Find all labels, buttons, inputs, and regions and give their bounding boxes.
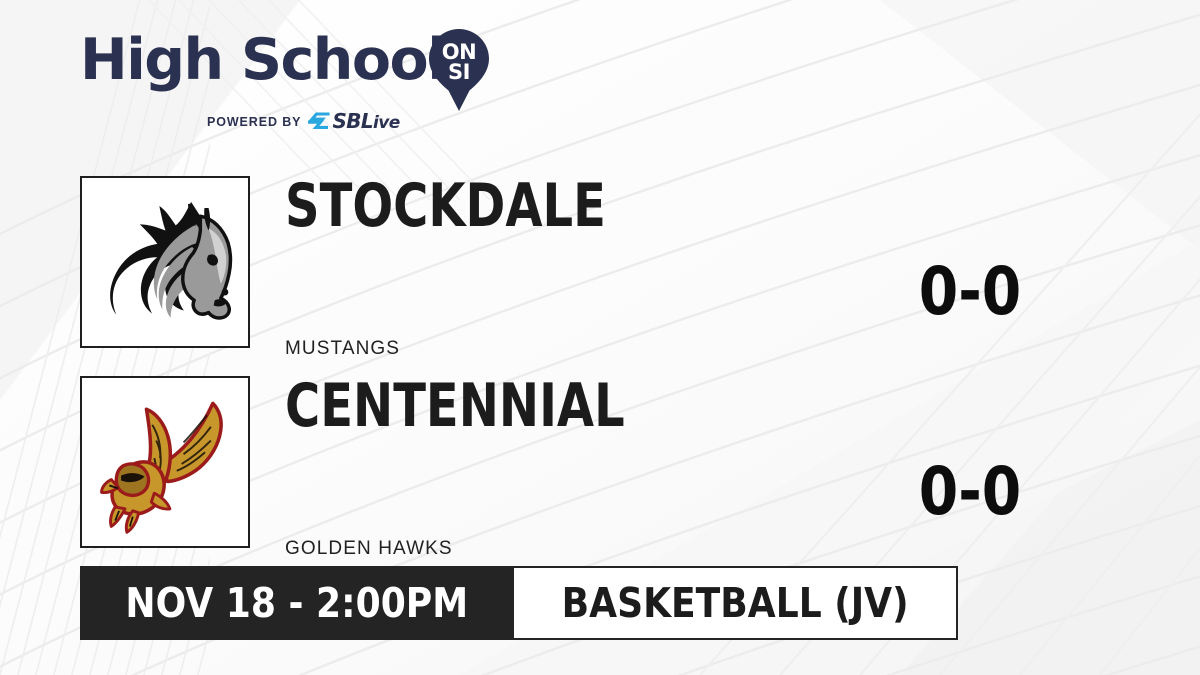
away-team-mascot: MUSTANGS [285, 338, 400, 360]
brand-lockup: High School ON SI POWERED BY SBLive [80, 32, 510, 132]
game-datetime-chip: NOV 18 - 2:00PM [80, 566, 514, 640]
game-sport-chip: BASKETBALL (JV) [514, 566, 958, 640]
away-team-name: STOCKDALE [285, 176, 606, 236]
pin-text-si: SI [448, 60, 470, 84]
home-team-record: 0-0 [901, 459, 1039, 525]
sblive-bolt-icon [308, 112, 330, 132]
away-team-record: 0-0 [901, 259, 1039, 325]
powered-by-label: POWERED BY [207, 115, 301, 129]
game-sport-label: BASKETBALL (JV) [561, 583, 908, 624]
brand-wordmark: High School [80, 32, 445, 89]
game-info-bar: NOV 18 - 2:00PM BASKETBALL (JV) [80, 566, 958, 640]
game-datetime-label: NOV 18 - 2:00PM [125, 583, 468, 624]
home-team-name: CENTENNIAL [285, 376, 625, 436]
on-si-pin-icon: ON SI [428, 27, 490, 113]
home-team-mascot: GOLDEN HAWKS [285, 538, 453, 560]
powered-by-lockup: POWERED BY SBLive [207, 111, 400, 132]
mustang-head-icon [82, 178, 248, 346]
sblive-upper: SBL [332, 109, 373, 133]
sblive-logo: SBLive [308, 111, 399, 132]
sblive-lower: ive [373, 113, 400, 133]
home-team-logo-box [80, 376, 250, 548]
golden-hawk-icon [82, 378, 248, 546]
sblive-wordmark: SBLive [332, 111, 399, 132]
away-team-logo-box [80, 176, 250, 348]
